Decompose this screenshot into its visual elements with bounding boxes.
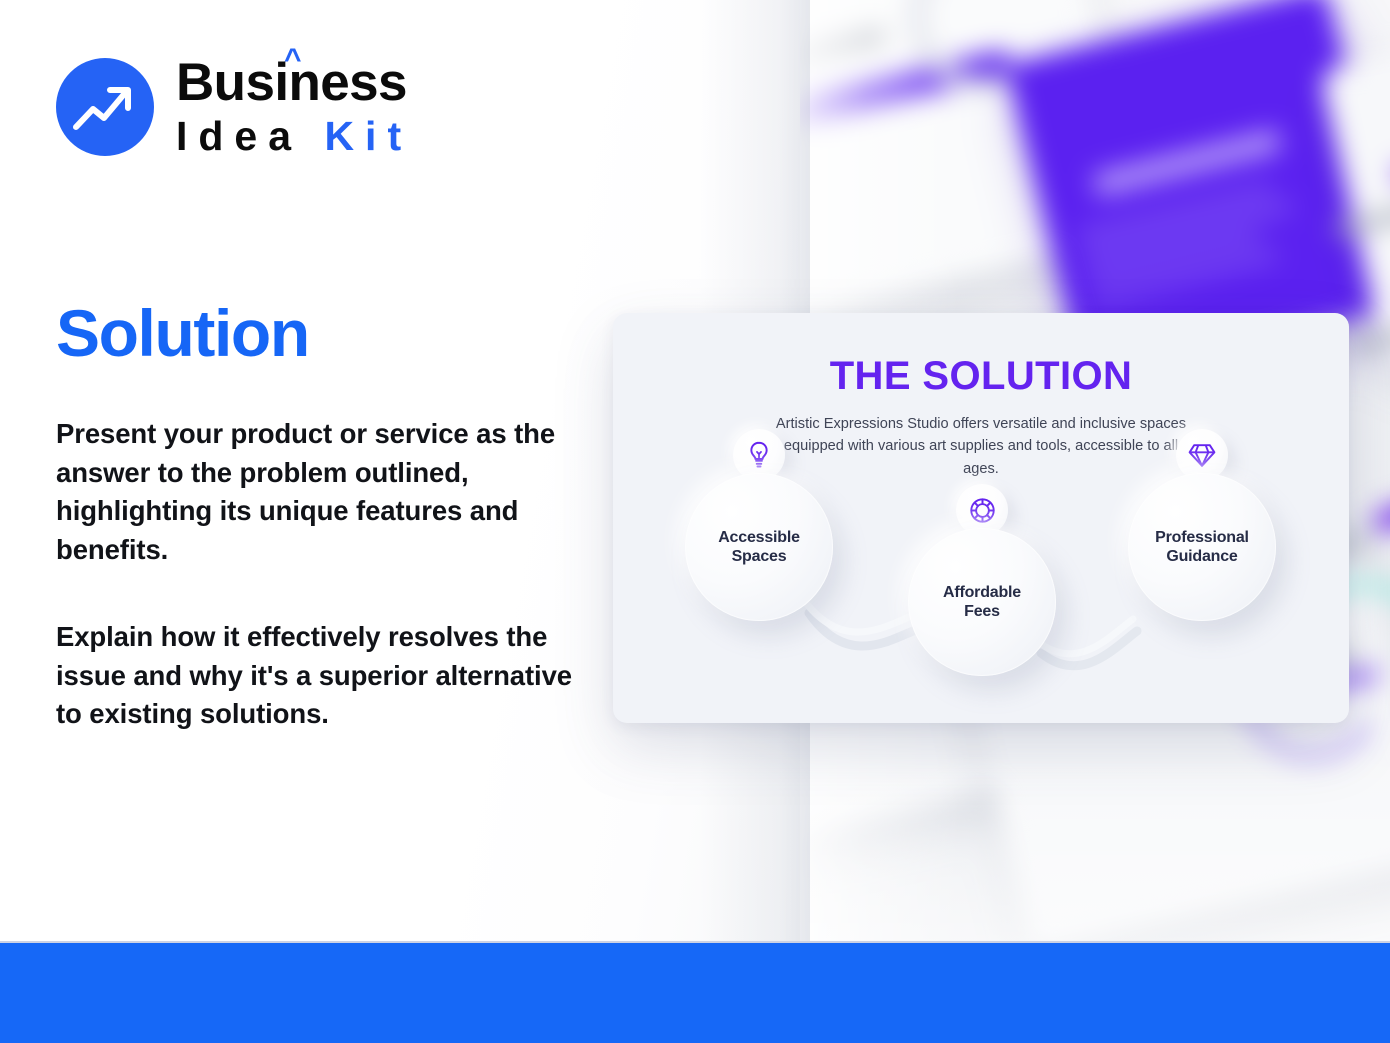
paragraph-2: Explain how it effectively resolves the … — [56, 618, 586, 734]
solution-node-ball: AffordableFees — [908, 528, 1056, 676]
solution-node-label: AccessibleSpaces — [718, 528, 800, 566]
slide-root: Business ^ Idea Kit Solution Present you… — [0, 0, 1390, 1043]
paragraph-1: Present your product or service as the a… — [56, 415, 586, 569]
page-title: Solution — [56, 295, 309, 371]
body-copy: Present your product or service as the a… — [56, 415, 586, 734]
brand-line-ideakit: Idea Kit — [176, 116, 412, 157]
growth-arrow-icon — [56, 58, 154, 156]
solution-card: THE SOLUTION Artistic Expressions Studio… — [613, 313, 1349, 723]
brand-caret-accent: ^ — [284, 45, 301, 75]
background-fade-bottom — [790, 741, 1390, 941]
brand-logo: Business ^ Idea Kit — [56, 56, 412, 157]
solution-node-label: AffordableFees — [943, 583, 1021, 621]
brand-line-business: Business ^ — [176, 56, 412, 109]
solution-node-ball: ProfessionalGuidance — [1128, 473, 1276, 621]
solution-node-group: AccessibleSpaces — [613, 313, 1349, 723]
background-bar — [1351, 317, 1390, 353]
background-bar — [1372, 475, 1390, 535]
brand-idea-text: Idea — [176, 113, 324, 159]
solution-node-label: ProfessionalGuidance — [1155, 528, 1249, 566]
footer-bar — [0, 941, 1390, 1043]
brand-kit-text: Kit — [324, 113, 412, 159]
solution-node-ball: AccessibleSpaces — [685, 473, 833, 621]
brand-wordmark: Business ^ Idea Kit — [176, 56, 412, 157]
